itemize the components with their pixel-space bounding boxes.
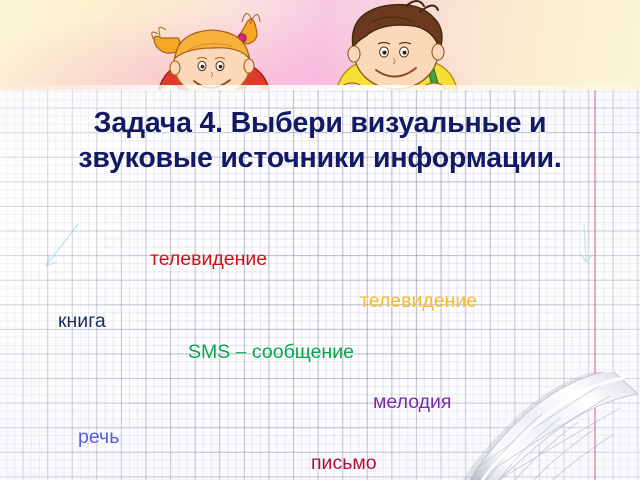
banner-desk-edge [0,85,640,90]
page-title: Задача 4. Выбери визуальные и звуковые и… [60,106,580,176]
page-curl-corner [452,372,640,480]
word-option-television-red[interactable]: телевидение [150,248,267,271]
girl-illustration [148,2,280,90]
word-option-book[interactable]: книга [58,310,106,333]
slide-canvas: Задача 4. Выбери визуальные и звуковые и… [0,0,640,480]
word-option-letter[interactable]: письмо [311,452,377,475]
header-banner [0,0,640,90]
banner-pink-glow [0,0,640,90]
word-option-television-yellow[interactable]: телевидение [360,290,477,313]
boy-illustration [322,0,472,90]
word-option-melody[interactable]: мелодия [373,391,451,414]
word-option-speech[interactable]: речь [78,426,119,449]
word-option-sms-message[interactable]: SMS – сообщение [188,341,354,364]
